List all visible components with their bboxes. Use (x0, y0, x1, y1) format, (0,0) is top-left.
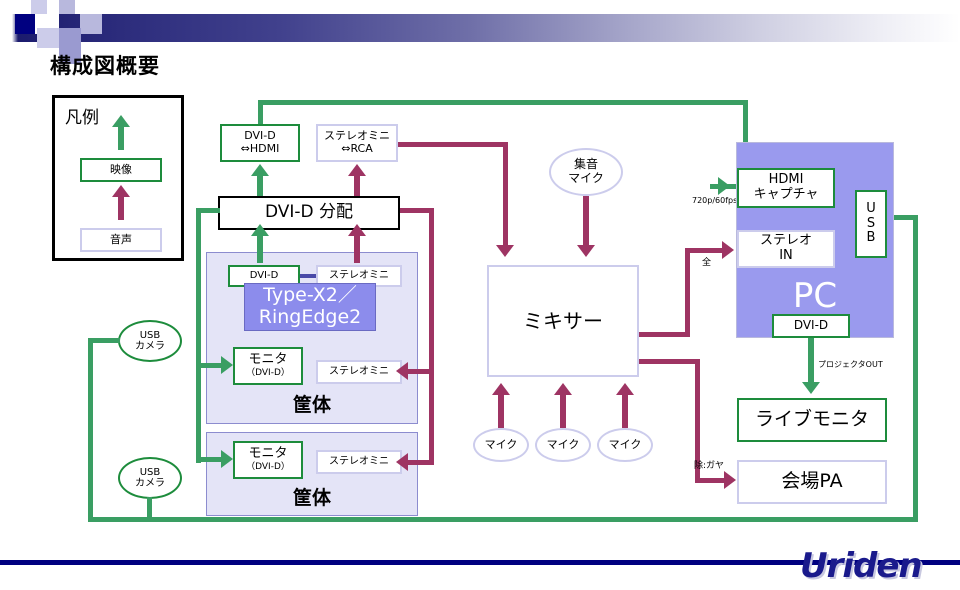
footer-logo: Uriden (800, 546, 922, 586)
usb-camera-2-line1: USB (140, 467, 161, 479)
pc-dvid-label: DVI-D (794, 319, 828, 333)
case1-stereo-mid-label: ステレオミニ (329, 366, 389, 378)
case-2-label: 筐体 (206, 482, 418, 510)
case2-monitor-line2: （DVI-D） (246, 462, 290, 472)
usb-camera-1-line1: USB (140, 330, 161, 342)
case1-dvid-label: DVI-D (250, 270, 279, 282)
edge-usb-right-riser (913, 215, 918, 522)
edge-mic3-head (616, 383, 634, 395)
usb-camera-1-line2: カメラ (135, 341, 165, 353)
node-dvid-splitter: DVI-D 分配 (218, 196, 400, 230)
node-live-monitor: ライブモニタ (737, 398, 887, 442)
stereo-in-line1: ステレオ (760, 234, 812, 249)
legend-title: 凡例 (65, 103, 99, 128)
edge-mic1-shaft (498, 394, 504, 428)
case1-monitor: モニタ （DVI-D） (233, 347, 303, 385)
edge-split-to-rca-head (348, 164, 366, 176)
edge-split-to-hdmi-shaft (257, 176, 263, 198)
mic-1-label: マイク (485, 439, 518, 452)
legend-video-box: 映像 (80, 158, 162, 182)
live-monitor-label: ライブモニタ (755, 409, 869, 431)
footer-dash-left (700, 561, 808, 565)
edge-shuon-to-mixer-shaft (583, 196, 589, 248)
edge-mixer-out-1-head (722, 241, 734, 259)
legend-audio-label: 音声 (110, 234, 132, 247)
shuon-mic-line1: 集音 (574, 158, 598, 172)
edge-case1-stereo-up-shaft (354, 235, 360, 263)
mic-3: マイク (597, 428, 653, 462)
case-1-label: 筐体 (206, 388, 418, 418)
node-stereo-rca-converter: ステレオミニ ⇔RCA (316, 124, 398, 162)
edge-hdmi-arrow-head (718, 177, 730, 195)
shuon-mic-line2: マイク (568, 172, 604, 186)
slide-canvas: 構成図概要 凡例 映像 音声 720p/60fps DVI-D ⇔HDMI ステ… (0, 0, 960, 590)
case2-stereo-label: ステレオミニ (329, 456, 389, 468)
pc-label: PC (736, 272, 894, 320)
case2-monitor: モニタ （DVI-D） (233, 441, 303, 479)
case2-stereo-port: ステレオミニ (316, 450, 402, 474)
edge-to-case1-stereo-head (396, 362, 408, 380)
header-square-navy (15, 14, 35, 34)
legend-audio-arrow-shaft (118, 195, 124, 220)
hdmi-capture-line2: キャプチャ (754, 188, 819, 203)
edge-shuon-to-mixer-head (577, 245, 595, 257)
mic-3-label: マイク (609, 439, 642, 452)
usb-camera-1: USB カメラ (118, 320, 182, 362)
edge-rca-drop (503, 142, 508, 248)
usb-camera-2: USB カメラ (118, 457, 182, 499)
edge-case1-dvid-up-head (251, 224, 269, 236)
edge-cam-bus-vertical (88, 338, 93, 522)
usb-port-char-3: B (867, 231, 876, 246)
mixer-label: ミキサー (523, 310, 603, 333)
edge-label-pa-note: 除:ガヤ (694, 458, 724, 471)
header-square-3 (80, 14, 102, 34)
header-square-5 (37, 28, 59, 48)
edge-to-case2-monitor-head (221, 450, 233, 468)
edge-label-capture-rate: 720p/60fps (692, 196, 737, 205)
edge-mic3-shaft (622, 394, 628, 428)
edge-usb-bottom-bus (88, 517, 918, 522)
edge-mixer-out-1-riser (685, 248, 690, 337)
edge-mic2-head (554, 383, 572, 395)
edge-splitter-right-drop (429, 208, 434, 465)
node-dvid-hdmi-converter: DVI-D ⇔HDMI (220, 124, 300, 162)
dvid-splitter-label: DVI-D 分配 (265, 203, 353, 223)
edge-rca-right (398, 142, 508, 147)
edge-case1-dvid-up-shaft (257, 235, 263, 263)
edge-to-case1-stereo (406, 369, 434, 374)
edge-hdmi-top-horizontal (258, 100, 748, 105)
stereo-rca-line2: ⇔RCA (341, 143, 373, 156)
legend-video-arrow-head (112, 115, 130, 127)
edge-to-case2-stereo (406, 460, 434, 465)
node-venue-pa: 会場PA (737, 460, 887, 504)
node-pc-dvid-out: DVI-D (772, 314, 850, 338)
node-mixer: ミキサー (487, 265, 639, 377)
node-typex2-ringedge2: Type-X2／ RingEdge2 (244, 283, 376, 331)
edge-usb-into-port (893, 215, 918, 220)
case1-stereo-mid-port: ステレオミニ (316, 360, 402, 384)
edge-rca-into-mixer-head (496, 245, 514, 257)
footer-dash-right (930, 561, 956, 565)
legend-audio-arrow-head (112, 185, 130, 197)
shuon-mic: 集音 マイク (549, 148, 623, 196)
hdmi-capture-line1: HDMI (769, 173, 804, 188)
case1-monitor-line1: モニタ (248, 353, 287, 368)
edge-label-projector-out: プロジェクタOUT (818, 359, 883, 370)
legend-video-arrow-shaft (118, 125, 124, 150)
edge-mic1-head (492, 383, 510, 395)
header-square-1 (31, 0, 47, 14)
legend-audio-box: 音声 (80, 228, 162, 252)
dvid-hdmi-line2: ⇔HDMI (241, 143, 280, 156)
mic-2: マイク (535, 428, 591, 462)
usb-port-char-1: U (866, 202, 876, 217)
case1-port-link (300, 274, 316, 278)
venue-pa-label: 会場PA (781, 471, 842, 493)
mic-2-label: マイク (547, 439, 580, 452)
usb-port-char-2: S (867, 217, 875, 232)
mic-1: マイク (473, 428, 529, 462)
header-gradient-bar (0, 14, 960, 42)
edge-to-case1-monitor (196, 363, 224, 368)
legend-video-label: 映像 (110, 164, 132, 177)
header-square-2 (59, 0, 75, 14)
node-stereo-in: ステレオ IN (737, 230, 835, 268)
edge-pc-to-live-monitor-head (802, 382, 820, 394)
case1-monitor-line2: （DVI-D） (246, 368, 290, 378)
edge-mixer-out-2 (639, 359, 700, 364)
case1-stereo-top-label: ステレオミニ (329, 270, 389, 282)
node-usb-port: U S B (855, 190, 887, 258)
edge-mixer-out-1-top (685, 248, 725, 253)
edge-split-to-hdmi-head (251, 164, 269, 176)
edge-case1-stereo-up-head (348, 224, 366, 236)
case2-monitor-line1: モニタ (248, 447, 287, 462)
edge-to-case1-monitor-head (221, 356, 233, 374)
edge-mic2-shaft (560, 394, 566, 428)
edge-splitter-left-drop (196, 208, 201, 463)
edge-pc-to-live-monitor-shaft (808, 338, 814, 385)
edge-hdmi-left-drop (258, 100, 263, 125)
usb-camera-2-line2: カメラ (135, 478, 165, 490)
typex2-line2: RingEdge2 (259, 307, 362, 329)
stereo-in-line2: IN (779, 249, 793, 264)
edge-label-stereo-in-note: 全 (702, 255, 711, 268)
edge-to-case2-monitor (196, 457, 224, 462)
edge-split-to-rca-shaft (354, 176, 360, 198)
edge-mixer-out-1 (639, 332, 690, 337)
page-title: 構成図概要 (50, 50, 160, 80)
edge-mixer-out-2-head (724, 471, 736, 489)
node-hdmi-capture: HDMI キャプチャ (737, 168, 835, 208)
edge-to-case2-stereo-head (396, 453, 408, 471)
typex2-line1: Type-X2／ (263, 285, 357, 307)
